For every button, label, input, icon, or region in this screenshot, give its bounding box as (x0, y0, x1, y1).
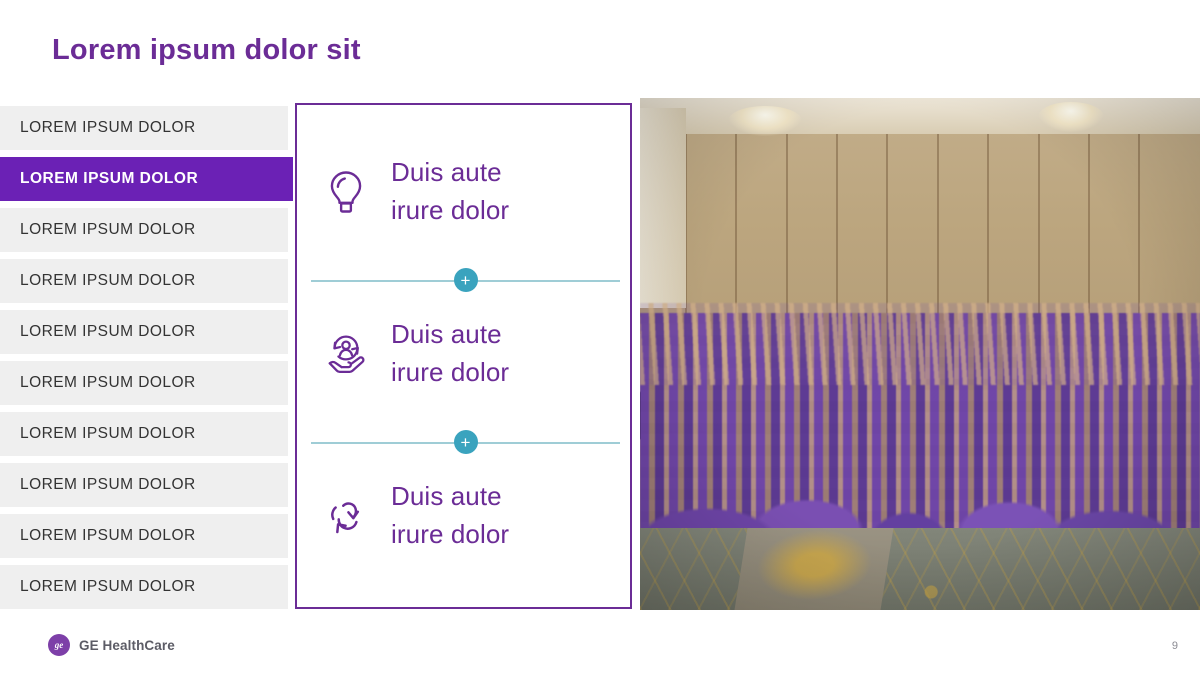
sidebar-item-10[interactable]: LOREM IPSUM DOLOR (0, 565, 288, 609)
card-row-1: Duis aute irure dolor (297, 133, 630, 251)
sidebar-item-9[interactable]: LOREM IPSUM DOLOR (0, 514, 288, 558)
sidebar-item-7[interactable]: LOREM IPSUM DOLOR (0, 412, 288, 456)
divider-2: + (311, 429, 620, 455)
page-number: 9 (1172, 640, 1178, 652)
sidebar-item-label: LOREM IPSUM DOLOR (20, 119, 196, 137)
sidebar-item-4[interactable]: LOREM IPSUM DOLOR (0, 259, 288, 303)
sidebar-item-2-active[interactable]: LOREM IPSUM DOLOR (0, 157, 293, 201)
card-text-line2: irure dolor (391, 192, 509, 230)
card-text-3: Duis aute irure dolor (391, 478, 509, 553)
sidebar-item-label: LOREM IPSUM DOLOR (20, 374, 196, 392)
photo-vignette (640, 98, 1200, 610)
sidebar-item-label: LOREM IPSUM DOLOR (20, 476, 196, 494)
brand-name: GE HealthCare (79, 638, 175, 653)
sidebar-item-label: LOREM IPSUM DOLOR (20, 272, 196, 290)
page-title: Lorem ipsum dolor sit (52, 34, 361, 67)
sidebar-item-label: LOREM IPSUM DOLOR (20, 578, 196, 596)
divider-1: + (311, 267, 620, 293)
brand-logo: ge GE HealthCare (48, 634, 175, 656)
sidebar-nav-list: LOREM IPSUM DOLOR LOREM IPSUM DOLOR LORE… (0, 106, 300, 616)
sidebar-item-3[interactable]: LOREM IPSUM DOLOR (0, 208, 288, 252)
card-text-line2: irure dolor (391, 354, 509, 392)
person-cycle-hand-icon (315, 323, 377, 385)
ge-monogram-icon: ge (48, 634, 70, 656)
sidebar-item-label: LOREM IPSUM DOLOR (20, 527, 196, 545)
card-text-1: Duis aute irure dolor (391, 154, 509, 229)
crowd-photo (640, 98, 1200, 610)
sidebar-item-label: LOREM IPSUM DOLOR (20, 170, 198, 188)
card-row-2: Duis aute irure dolor (297, 295, 630, 413)
sidebar-item-label: LOREM IPSUM DOLOR (20, 323, 196, 341)
card-text-line1: Duis aute (391, 154, 509, 192)
plus-icon[interactable]: + (454, 268, 478, 292)
card-text-line1: Duis aute (391, 316, 509, 354)
sidebar-item-label: LOREM IPSUM DOLOR (20, 425, 196, 443)
card-text-line2: irure dolor (391, 516, 509, 554)
card-text-2: Duis aute irure dolor (391, 316, 509, 391)
content-card: Duis aute irure dolor + (295, 103, 632, 609)
card-text-line1: Duis aute (391, 478, 509, 516)
sidebar-item-1[interactable]: LOREM IPSUM DOLOR (0, 106, 288, 150)
recycle-loop-icon (315, 485, 377, 547)
lightbulb-icon (315, 161, 377, 223)
plus-icon[interactable]: + (454, 430, 478, 454)
sidebar-item-6[interactable]: LOREM IPSUM DOLOR (0, 361, 288, 405)
sidebar-item-8[interactable]: LOREM IPSUM DOLOR (0, 463, 288, 507)
sidebar-item-label: LOREM IPSUM DOLOR (20, 221, 196, 239)
sidebar-item-5[interactable]: LOREM IPSUM DOLOR (0, 310, 288, 354)
slide: Lorem ipsum dolor sit LOREM IPSUM DOLOR … (0, 0, 1200, 675)
card-row-3: Duis aute irure dolor (297, 457, 630, 575)
